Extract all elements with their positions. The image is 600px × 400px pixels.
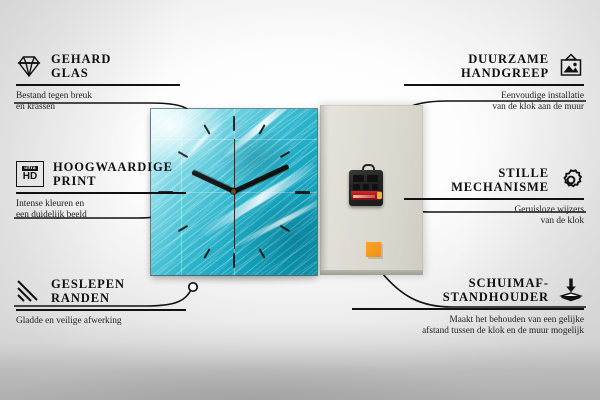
feature-title-line2: PRINT <box>53 174 96 188</box>
clock-mechanism-box <box>349 170 383 206</box>
infographic-canvas: GEHARD GLAS Bestand tegen breuk en krass… <box>0 0 600 400</box>
feature-divider <box>16 192 186 194</box>
clock-battery-label <box>353 195 375 198</box>
clock-foam-spacer-pad <box>366 242 381 257</box>
clock-back-panel-edge-shading <box>320 105 329 272</box>
feature-title-line1: STILLE <box>498 166 549 180</box>
feature-hoogwaardige-print: ultra HD HOOGWAARDIGE PRINT Intense kleu… <box>16 160 186 222</box>
feature-divider <box>404 198 584 200</box>
feature-title-line2: RANDEN <box>51 291 110 305</box>
feature-divider <box>352 308 584 310</box>
feature-title-line2: MECHANISME <box>451 180 549 194</box>
feature-title-line2: STANDHOUDER <box>443 290 549 304</box>
feature-schuimaf-standhouder: SCHUIMAF- STANDHOUDER Maakt het behouden… <box>352 276 584 338</box>
diagonal-lines-icon <box>16 278 42 304</box>
connector-dot-geslepen-randen <box>189 283 197 291</box>
clock-battery-plus-terminal <box>377 192 382 199</box>
feature-desc-line2: een duidelijk beeld <box>16 210 87 220</box>
clock-back-panel-bottom-edge <box>320 270 423 275</box>
feature-title-line1: DUURZAME <box>468 52 549 66</box>
feature-divider <box>404 84 584 86</box>
feature-desc-line2: en krassen <box>16 102 55 112</box>
feature-title-line1: GESLEPEN <box>51 277 125 291</box>
feature-desc-line1: Maakt het behouden van een gelijke <box>450 315 585 325</box>
feature-duurzame-handgreep: DUURZAME HANDGREEP Eenvoudige installati… <box>404 52 584 114</box>
feature-desc-line1: Intense kleuren en <box>16 199 84 209</box>
feature-divider <box>16 84 180 86</box>
picture-frame-icon <box>558 53 584 79</box>
feature-title-line2: GLAS <box>51 66 89 80</box>
diamond-icon <box>16 53 42 79</box>
feature-desc-line2: afstand tussen de klok en de muur mogeli… <box>422 326 584 336</box>
feature-gehard-glas: GEHARD GLAS Bestand tegen breuk en krass… <box>16 52 180 114</box>
feature-desc-line1: Bestand tegen breuk <box>16 91 92 101</box>
feature-title-line2: HANDGREEP <box>461 66 549 80</box>
feature-stille-mechanisme: STILLE MECHANISME Geruisloze wijzers van… <box>404 166 584 228</box>
feature-desc-line1: Eenvoudige installatie <box>501 91 584 101</box>
feature-divider <box>16 309 186 311</box>
feature-title-line1: HOOGWAARDIGE <box>53 160 173 174</box>
down-arrow-pad-icon <box>558 277 584 303</box>
feature-geslepen-randen: GESLEPEN RANDEN Gladde en veilige afwerk… <box>16 277 186 327</box>
feature-desc-line1: Geruisloze wijzers <box>515 205 584 215</box>
feature-title-line1: GEHARD <box>51 52 111 66</box>
feature-desc-line1: Gladde en veilige afwerking <box>16 316 122 326</box>
feature-title-line1: SCHUIMAF- <box>469 276 549 290</box>
feature-desc-line2: van de klok aan de muur <box>492 102 584 112</box>
ultra-hd-icon: ultra HD <box>16 161 44 187</box>
ultra-hd-icon-large-text: HD <box>23 172 37 182</box>
gear-icon <box>558 167 584 193</box>
feature-desc-line2: van de klok <box>541 216 584 226</box>
